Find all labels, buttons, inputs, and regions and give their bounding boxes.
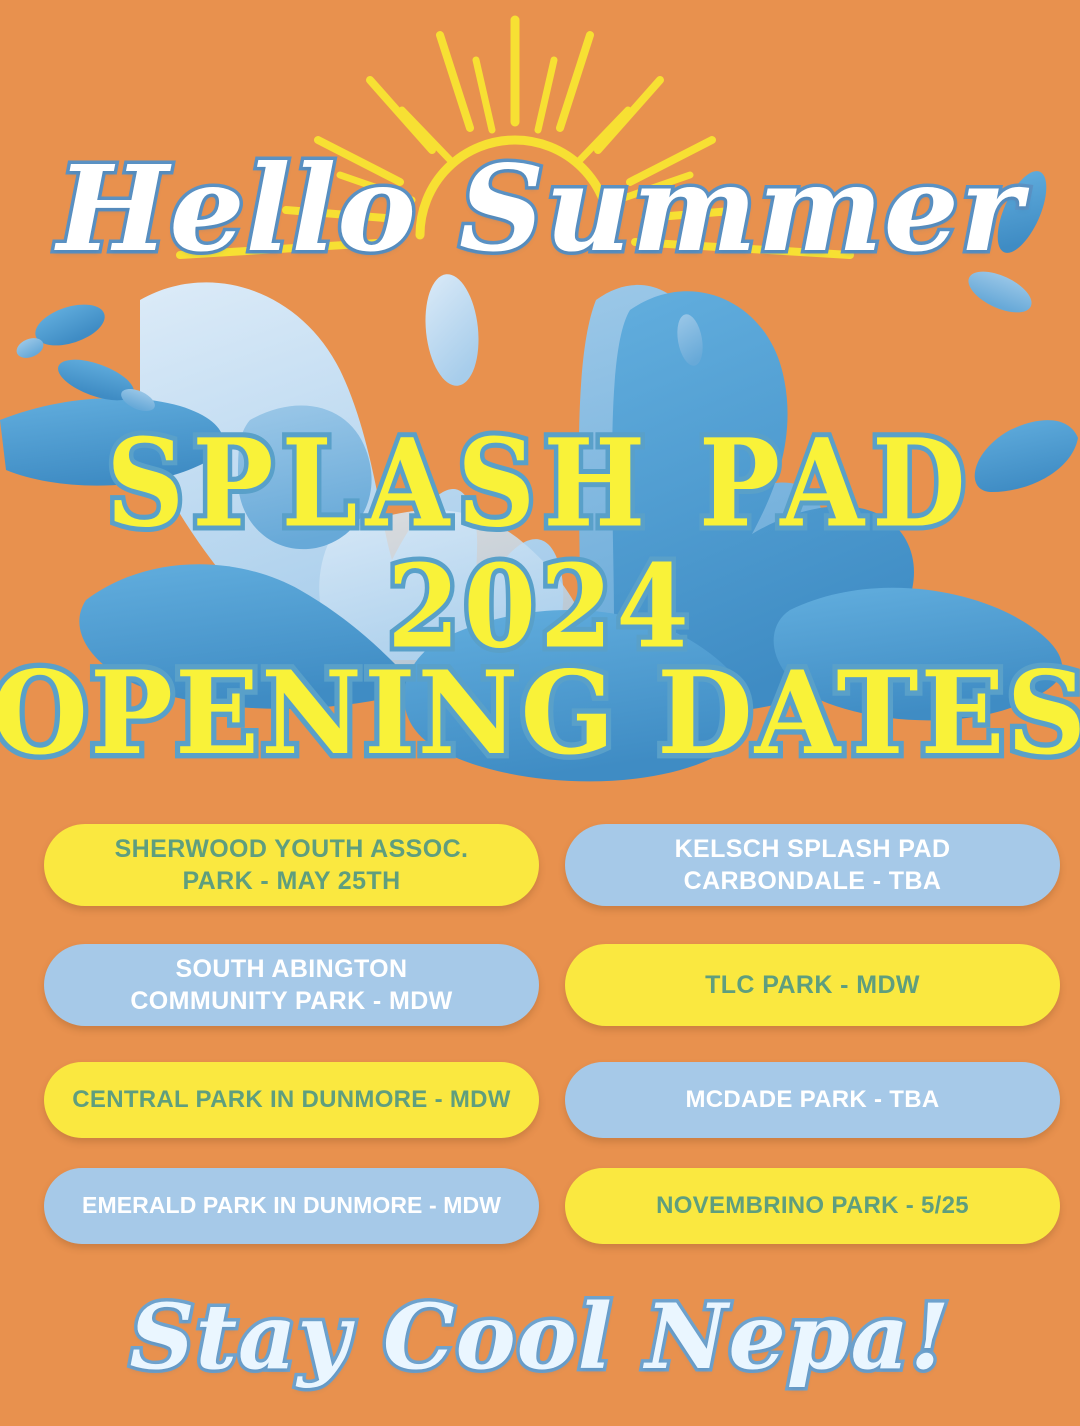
list-item-label: KELSCH SPLASH PAD CARBONDALE - TBA — [675, 833, 951, 897]
list-item-central-dunmore[interactable]: CENTRAL PARK IN DUNMORE - MDW — [44, 1062, 539, 1138]
list-item-line: CARBONDALE - TBA — [684, 867, 942, 895]
list-item-label: SHERWOOD YOUTH ASSOC. PARK - MAY 25TH — [115, 833, 469, 897]
headline-hello-summer: Hello Summer — [0, 150, 1080, 268]
title-splash-pad-text: SPLASH PAD — [106, 424, 973, 545]
list-item-tlc[interactable]: TLC PARK - MDW — [565, 944, 1060, 1026]
title-splash-pad: SPLASH PAD — [0, 430, 1080, 538]
list-item-sherwood[interactable]: SHERWOOD YOUTH ASSOC. PARK - MAY 25TH — [44, 824, 539, 906]
list-item-line: COMMUNITY PARK - MDW — [130, 987, 452, 1015]
splash-pad-opening-dates-poster: Hello Summer SPLASH PAD 2024 OPENING DAT… — [0, 0, 1080, 1426]
opening-dates-list: SHERWOOD YOUTH ASSOC. PARK - MAY 25TH KE… — [44, 824, 1060, 1268]
list-item-line: PARK - MAY 25TH — [182, 867, 400, 895]
footer-stay-cool-nepa: Stay Cool Nepa! — [0, 1292, 1080, 1382]
list-item-mcdade[interactable]: MCDADE PARK - TBA — [565, 1062, 1060, 1138]
list-item-line: KELSCH SPLASH PAD — [675, 835, 951, 863]
list-item-kelsch[interactable]: KELSCH SPLASH PAD CARBONDALE - TBA — [565, 824, 1060, 906]
list-item-south-abington[interactable]: SOUTH ABINGTON COMMUNITY PARK - MDW — [44, 944, 539, 1026]
list-item-label: MCDADE PARK - TBA — [686, 1085, 940, 1116]
footer-text: Stay Cool Nepa! — [129, 1292, 950, 1382]
list-row: EMERALD PARK IN DUNMORE - MDW NOVEMBRINO… — [44, 1168, 1060, 1244]
list-item-label: TLC PARK - MDW — [705, 969, 920, 1001]
headline-text: Hello Summer — [57, 150, 1023, 268]
list-item-label: SOUTH ABINGTON COMMUNITY PARK - MDW — [130, 953, 452, 1017]
list-item-label: EMERALD PARK IN DUNMORE - MDW — [82, 1191, 501, 1220]
list-item-label: NOVEMBRINO PARK - 5/25 — [656, 1191, 969, 1222]
title-opening-dates: OPENING DATES — [0, 660, 1080, 766]
list-item-label: CENTRAL PARK IN DUNMORE - MDW — [72, 1085, 510, 1116]
title-year: 2024 — [0, 555, 1080, 659]
list-item-emerald-dunmore[interactable]: EMERALD PARK IN DUNMORE - MDW — [44, 1168, 539, 1244]
list-item-line: SHERWOOD YOUTH ASSOC. — [115, 835, 469, 863]
list-item-novembrino[interactable]: NOVEMBRINO PARK - 5/25 — [565, 1168, 1060, 1244]
list-row: CENTRAL PARK IN DUNMORE - MDW MCDADE PAR… — [44, 1062, 1060, 1138]
title-opening-dates-text: OPENING DATES — [0, 656, 1080, 770]
list-row: SOUTH ABINGTON COMMUNITY PARK - MDW TLC … — [44, 944, 1060, 1026]
list-item-line: SOUTH ABINGTON — [175, 955, 407, 983]
list-row: SHERWOOD YOUTH ASSOC. PARK - MAY 25TH KE… — [44, 824, 1060, 906]
